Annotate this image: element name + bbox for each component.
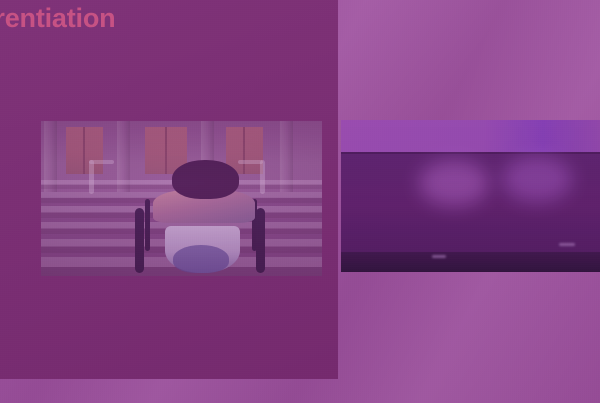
slide-photo-wheelchair-steps — [41, 121, 322, 276]
speaker-video-feed[interactable] — [341, 120, 600, 272]
slide-title: fferentiation — [0, 3, 292, 34]
video-purple-lift — [341, 120, 600, 272]
photo-purple-lift — [41, 121, 322, 276]
screen-share-view: fferentiation — [0, 0, 600, 403]
shared-presentation-slide[interactable]: fferentiation — [0, 0, 338, 379]
